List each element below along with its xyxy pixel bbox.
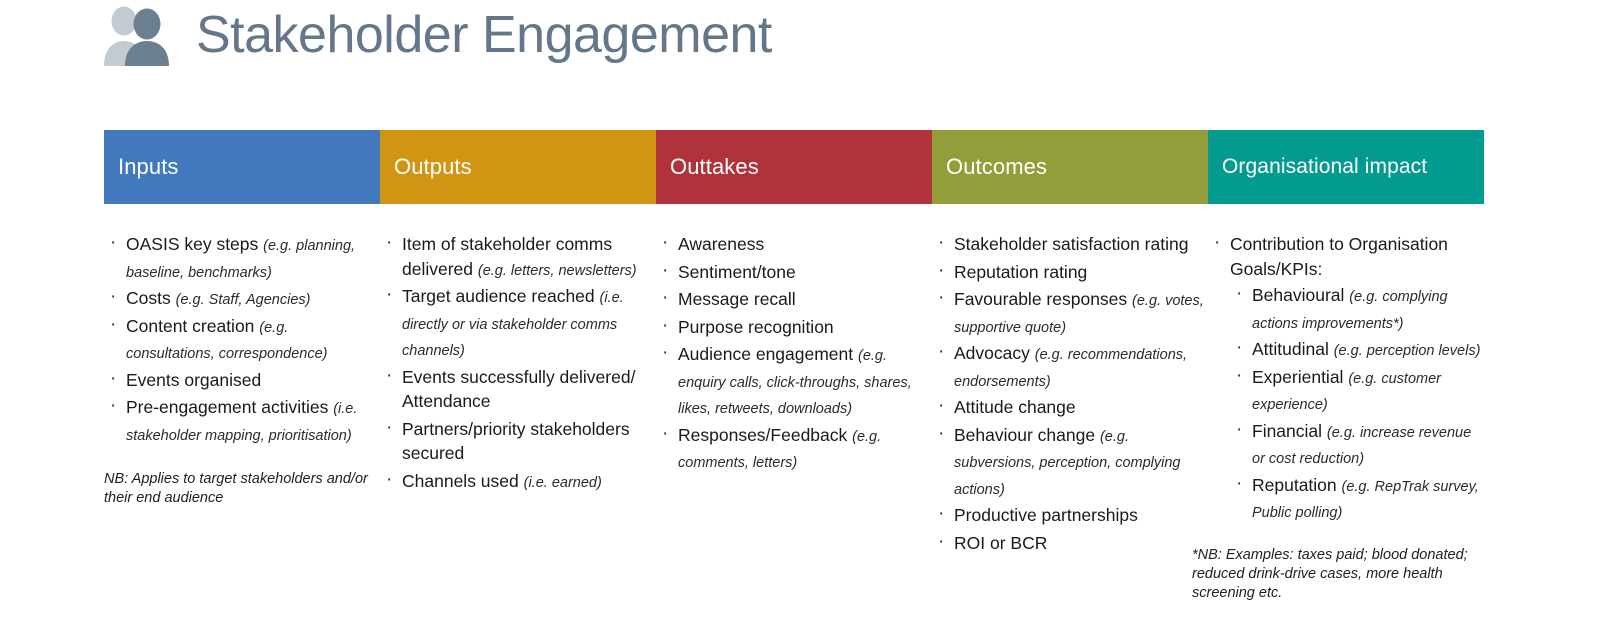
list-item: Reputation rating <box>932 260 1204 287</box>
item-label: Awareness <box>678 234 764 254</box>
item-example: (e.g. Staff, Agencies) <box>176 292 311 308</box>
list-item: Target audience reached (i.e. directly o… <box>380 284 650 364</box>
list-item: Partners/priority stakeholders secured <box>380 417 650 468</box>
column-outcomes: Outcomes Stakeholder satisfaction rating… <box>932 130 1208 603</box>
item-label: Responses/Feedback <box>678 425 852 445</box>
list-item: Channels used (i.e. earned) <box>380 469 650 496</box>
list-item: Contribution to Organisation Goals/KPIs:… <box>1208 232 1482 526</box>
column-body-outputs: Item of stakeholder comms delivered (e.g… <box>380 204 656 495</box>
column-body-outcomes: Stakeholder satisfaction rating Reputati… <box>932 204 1208 557</box>
item-label: Costs <box>126 288 176 308</box>
item-example: (e.g. letters, newsletters) <box>478 263 637 279</box>
framework-columns: Inputs OASIS key steps (e.g. planning, b… <box>0 130 1600 603</box>
list-item: Content creation (e.g. consultations, co… <box>104 314 370 367</box>
page-title: Stakeholder Engagement <box>196 9 772 61</box>
item-label: Contribution to Organisation Goals/KPIs: <box>1230 234 1448 279</box>
list-item: Costs (e.g. Staff, Agencies) <box>104 286 370 313</box>
item-label: Events organised <box>126 370 261 390</box>
list-item: Awareness <box>656 232 926 259</box>
list-item: OASIS key steps (e.g. planning, baseline… <box>104 232 370 285</box>
item-label: Pre-engagement activities <box>126 397 333 417</box>
item-label: Events successfully delivered/ Attendanc… <box>402 367 635 412</box>
column-header-outcomes[interactable]: Outcomes <box>932 130 1208 204</box>
column-inputs: Inputs OASIS key steps (e.g. planning, b… <box>104 130 380 603</box>
list-item: Events organised <box>104 368 370 395</box>
list-item: Attitudinal (e.g. perception levels) <box>1230 337 1482 364</box>
column-organisational-impact: Organisational impact Contribution to Or… <box>1208 130 1484 603</box>
column-outputs: Outputs Item of stakeholder comms delive… <box>380 130 656 603</box>
list-item: Pre-engagement activities (i.e. stakehol… <box>104 395 370 448</box>
item-label: ROI or BCR <box>954 533 1047 553</box>
item-label: Reputation rating <box>954 262 1087 282</box>
item-label: Advocacy <box>954 343 1035 363</box>
item-label: Audience engagement <box>678 344 858 364</box>
list-inputs: OASIS key steps (e.g. planning, baseline… <box>104 232 370 448</box>
column-outtakes: Outtakes Awareness Sentiment/tone Messag… <box>656 130 932 603</box>
list-item: Favourable responses (e.g. votes, suppor… <box>932 287 1204 340</box>
list-item: Message recall <box>656 287 926 314</box>
list-item: Sentiment/tone <box>656 260 926 287</box>
list-item: Stakeholder satisfaction rating <box>932 232 1204 259</box>
column-header-organisational-impact[interactable]: Organisational impact <box>1208 130 1484 204</box>
item-label: Favourable responses <box>954 289 1132 309</box>
list-item: Item of stakeholder comms delivered (e.g… <box>380 232 650 283</box>
list-outcomes: Stakeholder satisfaction rating Reputati… <box>932 232 1204 557</box>
two-people-icon <box>100 4 178 66</box>
list-item: Financial (e.g. increase revenue or cost… <box>1230 419 1482 472</box>
item-example: (e.g. perception levels) <box>1334 343 1481 359</box>
item-label: Target audience reached <box>402 286 600 306</box>
list-item: Behavioural (e.g. complying actions impr… <box>1230 283 1482 336</box>
column-header-outputs[interactable]: Outputs <box>380 130 656 204</box>
item-label: Reputation <box>1252 475 1342 495</box>
sublist-organisational-impact: Behavioural (e.g. complying actions impr… <box>1230 283 1482 526</box>
column-note-inputs: NB: Applies to target stakeholders and/o… <box>104 470 370 508</box>
page-header: Stakeholder Engagement <box>100 4 772 66</box>
list-item: Advocacy (e.g. recommendations, endorsem… <box>932 341 1204 394</box>
list-item: Attitude change <box>932 395 1204 422</box>
item-label: Behavioural <box>1252 285 1349 305</box>
list-item: Responses/Feedback (e.g. comments, lette… <box>656 423 926 476</box>
list-item: Experiential (e.g. customer experience) <box>1230 365 1482 418</box>
column-body-inputs: OASIS key steps (e.g. planning, baseline… <box>104 204 380 508</box>
item-label: Partners/priority stakeholders secured <box>402 419 630 464</box>
list-item: Reputation (e.g. RepTrak survey, Public … <box>1230 473 1482 526</box>
list-item: Productive partnerships <box>932 503 1204 530</box>
list-item: ROI or BCR <box>932 531 1204 558</box>
list-outtakes: Awareness Sentiment/tone Message recall … <box>656 232 926 476</box>
item-label: OASIS key steps <box>126 234 263 254</box>
list-item: Audience engagement (e.g. enquiry calls,… <box>656 342 926 422</box>
item-label: Channels used <box>402 471 524 491</box>
column-note-organisational-impact: *NB: Examples: taxes paid; blood donated… <box>1192 546 1482 603</box>
item-label: Sentiment/tone <box>678 262 796 282</box>
item-label: Behaviour change <box>954 425 1100 445</box>
item-label: Attitudinal <box>1252 339 1334 359</box>
list-item: Behaviour change (e.g. subversions, perc… <box>932 423 1204 503</box>
item-example: (i.e. earned) <box>524 475 602 491</box>
list-item: Purpose recognition <box>656 315 926 342</box>
column-body-organisational-impact: Contribution to Organisation Goals/KPIs:… <box>1208 204 1484 603</box>
list-organisational-impact: Contribution to Organisation Goals/KPIs:… <box>1208 232 1482 526</box>
column-header-inputs[interactable]: Inputs <box>104 130 380 204</box>
list-item: Events successfully delivered/ Attendanc… <box>380 365 650 416</box>
item-label: Purpose recognition <box>678 317 834 337</box>
column-header-outtakes[interactable]: Outtakes <box>656 130 932 204</box>
left-gutter <box>0 130 104 603</box>
item-label: Stakeholder satisfaction rating <box>954 234 1188 254</box>
item-label: Message recall <box>678 289 796 309</box>
item-label: Productive partnerships <box>954 505 1138 525</box>
column-body-outtakes: Awareness Sentiment/tone Message recall … <box>656 204 932 476</box>
list-outputs: Item of stakeholder comms delivered (e.g… <box>380 232 650 495</box>
item-label: Financial <box>1252 421 1327 441</box>
item-label: Experiential <box>1252 367 1348 387</box>
item-label: Content creation <box>126 316 259 336</box>
item-label: Attitude change <box>954 397 1076 417</box>
